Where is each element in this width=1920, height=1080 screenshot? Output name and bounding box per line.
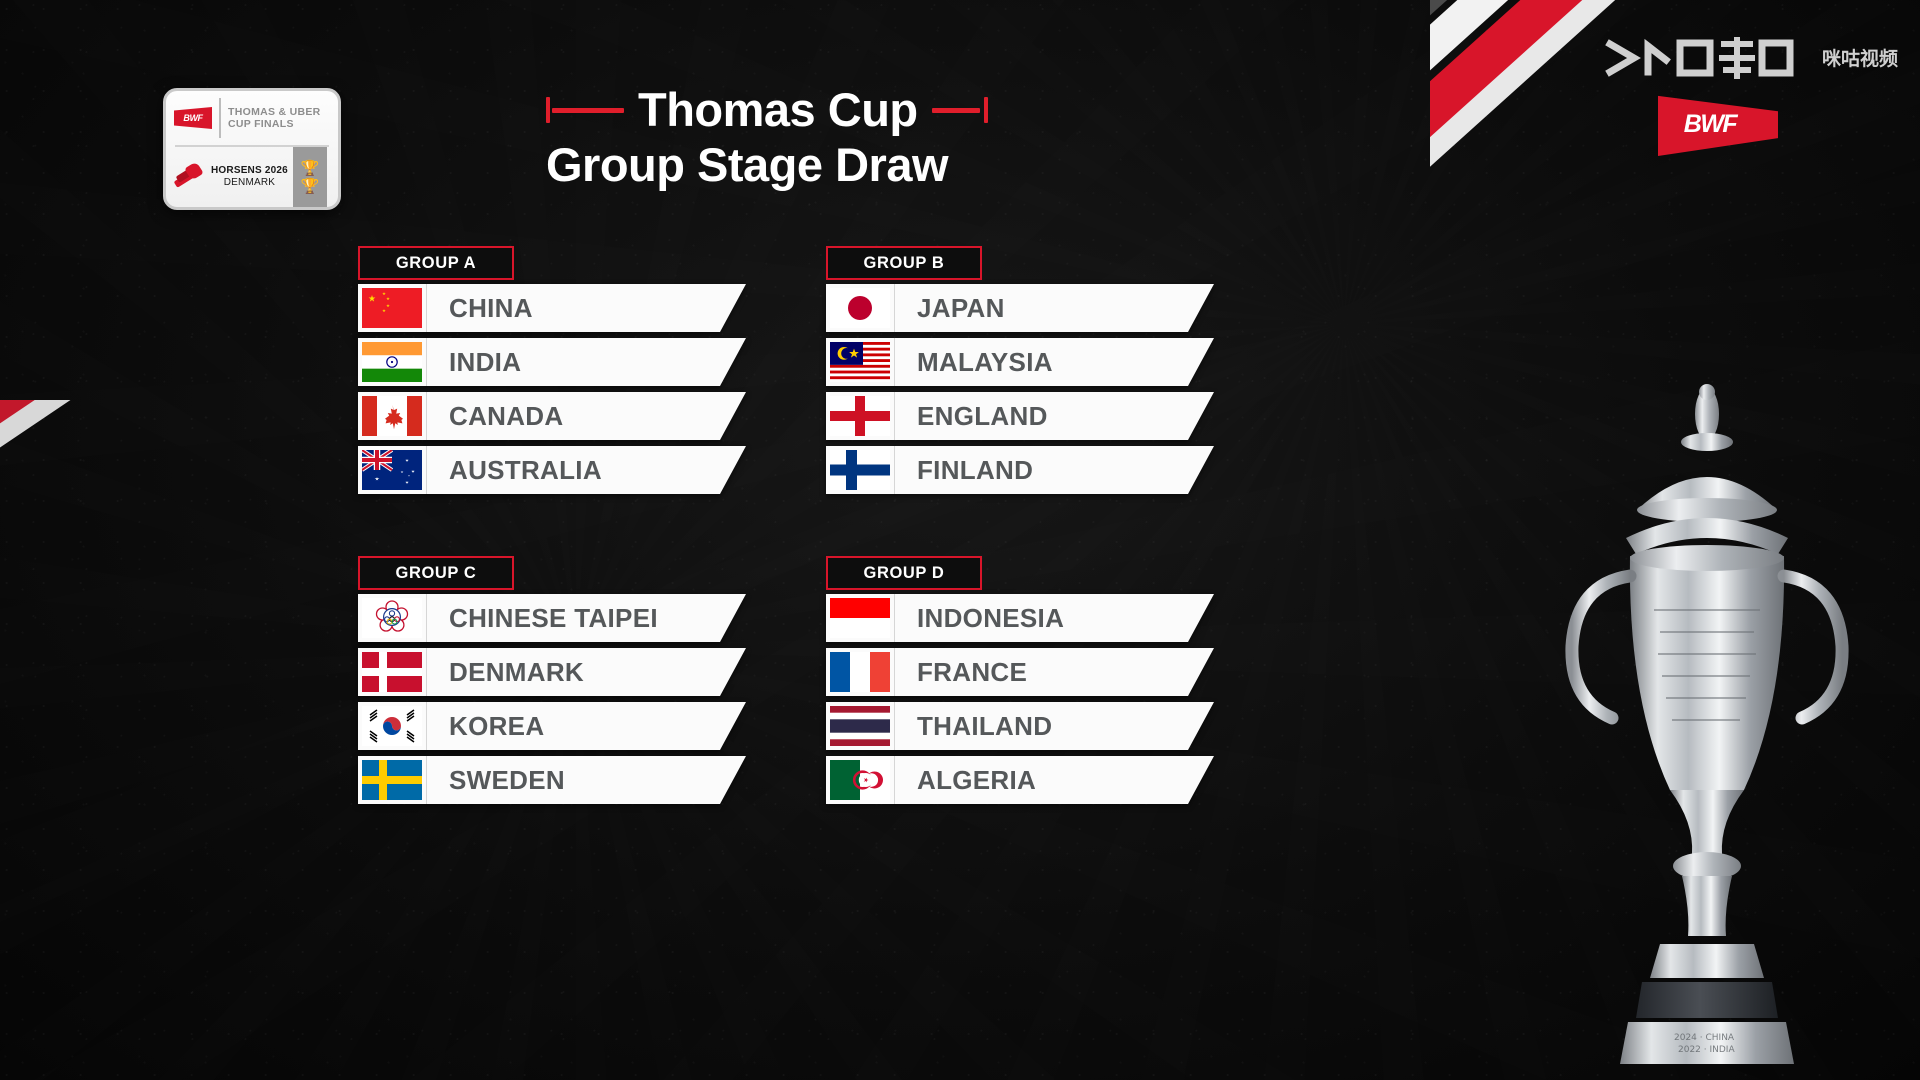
team-plate: KOREA	[358, 702, 746, 750]
team-plate: SWEDEN	[358, 756, 746, 804]
title-left-tick-icon	[546, 97, 550, 123]
team-plate: CHINA	[358, 284, 746, 332]
team-plate: CANADA	[358, 392, 746, 440]
thomas-cup-trophy-image: 2024 · CHINA 2022 · INDIA	[1542, 370, 1872, 1070]
group-header: GROUP B	[826, 246, 982, 280]
team-name: THAILAND	[895, 702, 1214, 750]
bwf-logo-text: BWF	[1658, 92, 1778, 156]
trophy-icon: 🏆	[301, 161, 320, 176]
group-label: GROUP D	[864, 564, 945, 583]
team-row: INDIA	[358, 338, 826, 386]
group-header: GROUP C	[358, 556, 514, 590]
group-block-c: GROUP C CHINESE TAIPEI DENMARK KOREA	[358, 556, 826, 810]
logo-trophy-icons: 🏆 🏆	[293, 147, 327, 207]
page-title: Thomas Cup Group Stage Draw	[546, 84, 1066, 194]
team-row: THAILAND	[826, 702, 1228, 750]
shuttlecock-icon	[172, 160, 206, 194]
flag-china-icon	[358, 284, 427, 332]
team-list: JAPAN MALAYSIA ENGLAND FINLAND	[826, 284, 1228, 494]
team-name: KOREA	[427, 702, 746, 750]
group-label: GROUP B	[864, 254, 945, 273]
team-list: CHINESE TAIPEI DENMARK KOREA SWEDEN	[358, 594, 826, 804]
group-header: GROUP A	[358, 246, 514, 280]
group-block-d: GROUP D INDONESIA FRANCE THAILAND ALGERI…	[826, 556, 1228, 810]
team-row: JAPAN	[826, 284, 1228, 332]
team-row: ENGLAND	[826, 392, 1228, 440]
team-plate: ENGLAND	[826, 392, 1214, 440]
groups-container: GROUP A CHINA INDIA CANADA AUSTRALIAGROU…	[358, 246, 1228, 810]
broadcaster-name: 咪咕视频	[1822, 49, 1898, 70]
title-right-dash-icon	[932, 108, 980, 113]
team-name: ALGERIA	[895, 756, 1214, 804]
team-row: INDONESIA	[826, 594, 1228, 642]
title-line-1: Thomas Cup	[638, 84, 918, 136]
team-plate: ALGERIA	[826, 756, 1214, 804]
team-plate: THAILAND	[826, 702, 1214, 750]
team-name: MALAYSIA	[895, 338, 1214, 386]
flag-algeria-icon	[826, 756, 895, 804]
logo-bottom-row: HORSENS 2026 DENMARK 🏆 🏆	[166, 147, 338, 207]
team-row: CHINESE TAIPEI	[358, 594, 826, 642]
team-plate: FINLAND	[826, 446, 1214, 494]
bwf-mark-text: BWF	[174, 107, 212, 129]
team-row: CANADA	[358, 392, 826, 440]
flag-finland-icon	[826, 446, 895, 494]
team-row: MALAYSIA	[826, 338, 1228, 386]
team-name: ENGLAND	[895, 392, 1214, 440]
decorative-stripes-bottom-left	[0, 400, 360, 730]
group-label: GROUP A	[396, 254, 476, 273]
bwf-icon: BWF	[174, 107, 212, 129]
team-name: CHINESE TAIPEI	[427, 594, 746, 642]
logo-host-info: HORSENS 2026 DENMARK	[211, 165, 288, 189]
team-name: DENMARK	[427, 648, 746, 696]
team-plate: INDONESIA	[826, 594, 1214, 642]
flag-thailand-icon	[826, 702, 895, 750]
flag-denmark-icon	[358, 648, 427, 696]
team-row: FINLAND	[826, 446, 1228, 494]
team-name: AUSTRALIA	[427, 446, 746, 494]
team-plate: MALAYSIA	[826, 338, 1214, 386]
team-list: CHINA INDIA CANADA AUSTRALIA	[358, 284, 826, 494]
title-left-dash-icon	[552, 108, 624, 113]
team-plate: INDIA	[358, 338, 746, 386]
team-name: INDIA	[427, 338, 746, 386]
title-line-2: Group Stage Draw	[546, 136, 1066, 194]
logo-top-row: BWF THOMAS & UBER CUP FINALS	[166, 91, 338, 145]
team-name: FRANCE	[895, 648, 1214, 696]
team-plate: CHINESE TAIPEI	[358, 594, 746, 642]
flag-australia-icon	[358, 446, 427, 494]
title-right-tick-icon	[984, 97, 988, 123]
team-list: INDONESIA FRANCE THAILAND ALGERIA	[826, 594, 1228, 804]
group-label: GROUP C	[396, 564, 477, 583]
team-name: CHINA	[427, 284, 746, 332]
flag-india-icon	[358, 338, 427, 386]
team-plate: FRANCE	[826, 648, 1214, 696]
flag-england-icon	[826, 392, 895, 440]
team-row: KOREA	[358, 702, 826, 750]
flag-sweden-icon	[358, 756, 427, 804]
group-header: GROUP D	[826, 556, 982, 590]
team-row: CHINA	[358, 284, 826, 332]
group-block-b: GROUP B JAPAN MALAYSIA ENGLAND FINLAND	[826, 246, 1228, 500]
team-plate: AUSTRALIA	[358, 446, 746, 494]
logo-event-name: THOMAS & UBER CUP FINALS	[228, 106, 321, 130]
team-row: DENMARK	[358, 648, 826, 696]
flag-malaysia-icon	[826, 338, 895, 386]
broadcaster-logos: 咪咕视频 BWF	[1598, 30, 1898, 156]
team-row: AUSTRALIA	[358, 446, 826, 494]
team-name: FINLAND	[895, 446, 1214, 494]
team-row: FRANCE	[826, 648, 1228, 696]
team-row: ALGERIA	[826, 756, 1228, 804]
team-row: SWEDEN	[358, 756, 826, 804]
logo-divider	[219, 98, 221, 138]
svg-text:2024 · CHINA: 2024 · CHINA	[1674, 1033, 1735, 1043]
migu-logo-icon	[1604, 30, 1814, 88]
team-plate: JAPAN	[826, 284, 1214, 332]
flag-japan-icon	[826, 284, 895, 332]
flag-canada-icon	[358, 392, 427, 440]
team-plate: DENMARK	[358, 648, 746, 696]
svg-text:2022 · INDIA: 2022 · INDIA	[1678, 1045, 1735, 1055]
bwf-logo-icon: BWF	[1658, 92, 1778, 156]
group-block-a: GROUP A CHINA INDIA CANADA AUSTRALIA	[358, 246, 826, 500]
team-name: INDONESIA	[895, 594, 1214, 642]
team-name: JAPAN	[895, 284, 1214, 332]
trophy-icon: 🏆	[301, 179, 320, 194]
flag-chinese-taipei-icon	[358, 594, 427, 642]
flag-korea-icon	[358, 702, 427, 750]
flag-indonesia-icon	[826, 594, 895, 642]
event-logo-card: BWF THOMAS & UBER CUP FINALS HORSENS 202…	[163, 88, 341, 210]
team-name: SWEDEN	[427, 756, 746, 804]
team-name: CANADA	[427, 392, 746, 440]
flag-france-icon	[826, 648, 895, 696]
